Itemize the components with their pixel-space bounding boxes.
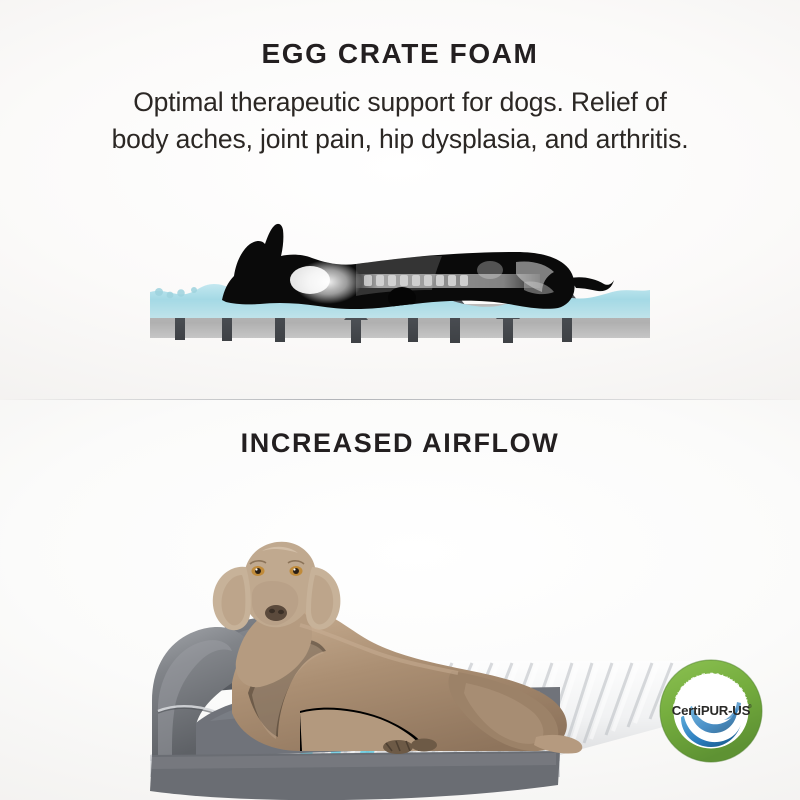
dog-xray-on-foam-diagram	[150, 200, 650, 360]
badge-wordmark: CertiPUR-US	[672, 703, 751, 718]
dog-tail	[570, 277, 614, 291]
dog-silhouette	[222, 224, 614, 309]
subtitle-text: Optimal therapeutic support for dogs. Re…	[22, 84, 778, 158]
dog-nose	[265, 605, 287, 621]
certipur-us-badge: CERTIFIED FLEXIBLE POLYURETHANE FOAM CER…	[658, 658, 764, 764]
badge-trademark-symbol: ®	[748, 703, 752, 710]
subtitle-line-2: body aches, joint pain, hip dysplasia, a…	[112, 124, 689, 154]
product-feature-image: EGG CRATE FOAM Optimal therapeutic suppo…	[0, 0, 800, 800]
page-title: EGG CRATE FOAM	[0, 38, 800, 70]
dog-weimaraner	[213, 542, 583, 754]
subtitle-line-1: Optimal therapeutic support for dogs. Re…	[133, 87, 667, 117]
